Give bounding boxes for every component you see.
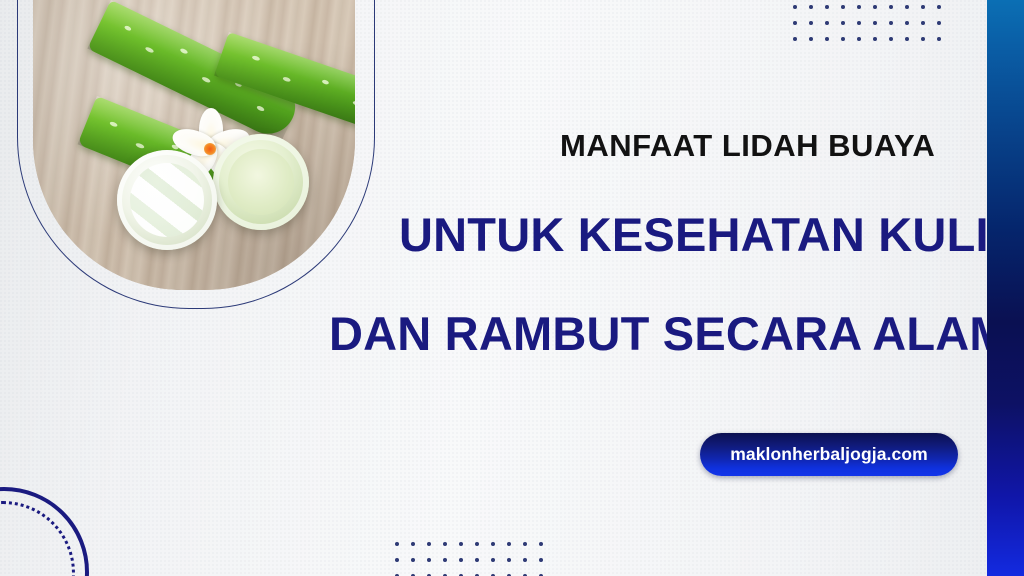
decorative-dot [921, 5, 925, 9]
decorative-dot [809, 37, 813, 41]
website-url-label: maklonherbaljogja.com [730, 444, 928, 465]
aloe-gel [130, 163, 204, 237]
decorative-dot [889, 37, 893, 41]
decorative-dot [793, 37, 797, 41]
decorative-dot [825, 21, 829, 25]
decorative-dot [523, 558, 527, 562]
decorative-dot [841, 21, 845, 25]
aloe-gel-jar [213, 134, 309, 230]
decorative-dot [857, 5, 861, 9]
flower-center [204, 143, 216, 155]
decorative-dot [889, 21, 893, 25]
decorative-dot [905, 37, 909, 41]
decorative-dot [809, 21, 813, 25]
decorative-dot [905, 21, 909, 25]
decorative-dot [411, 558, 415, 562]
headline-line-1: UNTUK KESEHATAN KULIT [399, 207, 1018, 262]
decorative-dot [427, 558, 431, 562]
decorative-dot [937, 21, 941, 25]
decorative-dot [937, 5, 941, 9]
decorative-dot [507, 558, 511, 562]
decorative-dot [921, 21, 925, 25]
aloe-vera-photo [33, 0, 355, 290]
decorative-dot [539, 558, 543, 562]
poster-canvas: MANFAAT LIDAH BUAYA UNTUK KESEHATAN KULI… [0, 0, 1024, 576]
decorative-dot [841, 5, 845, 9]
decorative-dot [443, 558, 447, 562]
aloe-gel [228, 149, 294, 215]
decorative-dot [937, 37, 941, 41]
headline-line-2: DAN RAMBUT SECARA ALAMI [329, 306, 1022, 361]
decorative-dot [793, 21, 797, 25]
decorative-dot [475, 542, 479, 546]
decorative-dot [507, 542, 511, 546]
decorative-dot [873, 37, 877, 41]
decorative-dot [889, 5, 893, 9]
decorative-dot [857, 21, 861, 25]
decorative-dot [825, 5, 829, 9]
eyebrow-text: MANFAAT LIDAH BUAYA [560, 128, 935, 164]
dot-grid-bottom-center [395, 542, 555, 576]
decorative-dot [793, 5, 797, 9]
decorative-dot [459, 558, 463, 562]
decorative-dot [905, 5, 909, 9]
aloe-gel-jar [117, 150, 217, 250]
decorative-dot [857, 37, 861, 41]
bottom-left-corner-arc [0, 487, 89, 576]
decorative-dot [395, 558, 399, 562]
dot-grid-top-right [793, 5, 953, 53]
decorative-dot [523, 542, 527, 546]
decorative-dot [475, 558, 479, 562]
wooden-plank-background [33, 0, 355, 290]
decorative-dot [491, 542, 495, 546]
decorative-dot [411, 542, 415, 546]
decorative-dot [427, 542, 431, 546]
decorative-dot [825, 37, 829, 41]
decorative-dot [809, 5, 813, 9]
decorative-dot [873, 21, 877, 25]
website-url-button[interactable]: maklonherbaljogja.com [700, 433, 958, 476]
decorative-dot [491, 558, 495, 562]
decorative-dot [539, 542, 543, 546]
decorative-dot [921, 37, 925, 41]
decorative-dot [459, 542, 463, 546]
decorative-dot [841, 37, 845, 41]
bottom-left-corner-dotted-arc [0, 501, 75, 576]
decorative-dot [395, 542, 399, 546]
decorative-dot [443, 542, 447, 546]
right-gradient-bar [987, 0, 1024, 576]
decorative-dot [873, 5, 877, 9]
